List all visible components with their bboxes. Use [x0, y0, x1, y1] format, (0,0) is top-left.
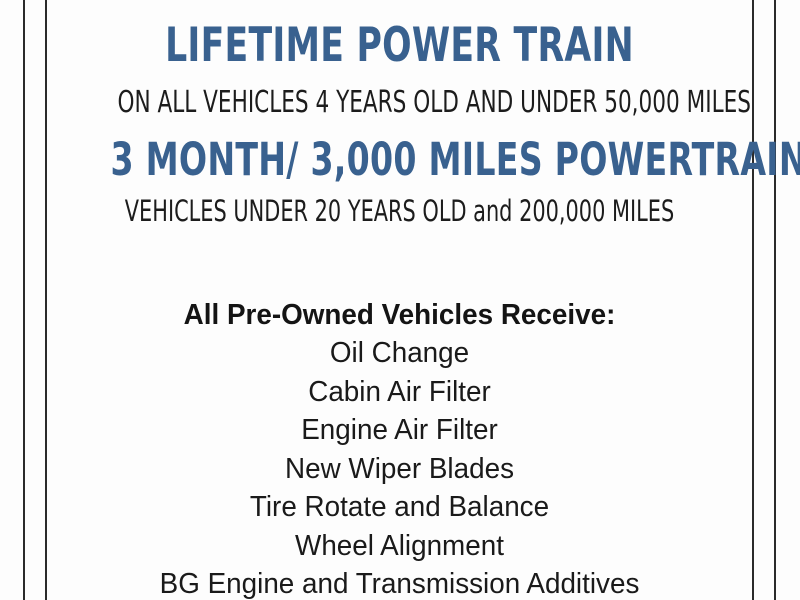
- border-rule-left-outer: [23, 0, 25, 600]
- services-section: All Pre-Owned Vehicles Receive: Oil Chan…: [47, 296, 752, 600]
- flyer-page: LIFETIME POWER TRAIN ON ALL VEHICLES 4 Y…: [0, 0, 800, 600]
- flyer-content: LIFETIME POWER TRAIN ON ALL VEHICLES 4 Y…: [47, 0, 752, 600]
- warranty-subtitle-lifetime: ON ALL VEHICLES 4 YEARS OLD AND UNDER 50…: [118, 88, 682, 118]
- service-list-item: Wheel Alignment: [61, 527, 738, 566]
- warranty-block-3month: 3 MONTH/ 3,000 MILES POWERTRAIN VEHICLES…: [47, 137, 752, 226]
- services-list: Oil ChangeCabin Air FilterEngine Air Fil…: [47, 334, 752, 600]
- border-rule-right-outer: [774, 0, 776, 600]
- service-list-item: Cabin Air Filter: [61, 373, 738, 412]
- service-list-item: Engine Air Filter: [61, 411, 738, 450]
- warranty-title-3month: 3 MONTH/ 3,000 MILES POWERTRAIN: [110, 137, 688, 182]
- services-heading: All Pre-Owned Vehicles Receive:: [61, 296, 738, 334]
- warranty-block-lifetime: LIFETIME POWER TRAIN ON ALL VEHICLES 4 Y…: [47, 22, 752, 118]
- service-list-item: Tire Rotate and Balance: [61, 488, 738, 527]
- warranty-title-lifetime: LIFETIME POWER TRAIN: [110, 22, 688, 69]
- border-rule-right-inner: [752, 0, 754, 600]
- service-list-item: New Wiper Blades: [61, 450, 738, 489]
- service-list-item: BG Engine and Transmission Additives: [61, 565, 738, 600]
- service-list-item: Oil Change: [61, 334, 738, 373]
- warranty-subtitle-3month: VEHICLES UNDER 20 YEARS OLD and 200,000 …: [118, 197, 682, 226]
